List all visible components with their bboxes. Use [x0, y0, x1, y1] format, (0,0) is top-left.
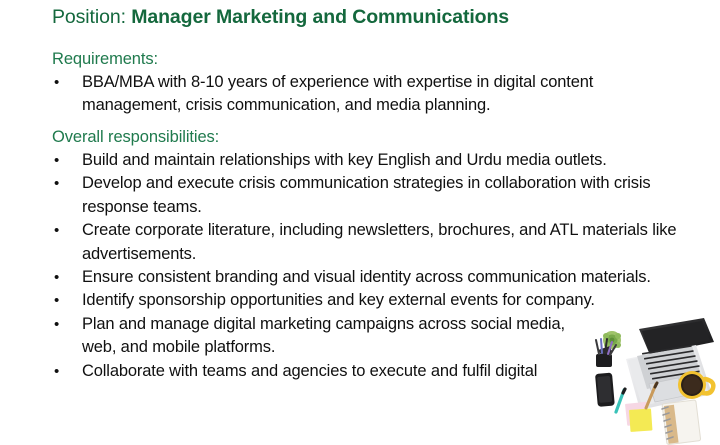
pencil-icon — [646, 383, 657, 408]
responsibilities-heading: Overall responsibilities: — [52, 127, 219, 148]
list-item: • BBA/MBA with 8-10 years of experience … — [0, 71, 720, 118]
pen-icon — [616, 389, 625, 412]
bullet-icon: • — [54, 266, 64, 289]
responsibilities-list: • Build and maintain relationships with … — [0, 149, 720, 383]
list-item-text: Collaborate with teams and agencies to e… — [82, 360, 660, 383]
list-item-text: Create corporate literature, including n… — [82, 219, 686, 266]
list-item: • Plan and manage digital marketing camp… — [0, 313, 720, 360]
list-item-text: Plan and manage digital marketing campai… — [82, 313, 570, 360]
requirements-heading: Requirements: — [52, 49, 158, 70]
list-item-text: BBA/MBA with 8-10 years of experience wi… — [82, 71, 686, 118]
bullet-icon: • — [54, 71, 64, 94]
slide-canvas: Position: Manager Marketing and Communic… — [0, 0, 720, 445]
bullet-icon: • — [54, 149, 64, 172]
position-heading: Position: Manager Marketing and Communic… — [52, 5, 509, 29]
list-item: • Ensure consistent branding and visual … — [0, 266, 720, 289]
bullet-icon: • — [54, 172, 64, 195]
bullet-icon: • — [54, 360, 64, 383]
spiral-notebook-icon — [662, 400, 701, 445]
list-item: • Collaborate with teams and agencies to… — [0, 360, 720, 383]
list-item-text: Develop and execute crisis communication… — [82, 172, 686, 219]
list-item: • Build and maintain relationships with … — [0, 149, 720, 172]
bullet-icon: • — [54, 219, 64, 242]
list-item-text: Build and maintain relationships with ke… — [82, 149, 686, 172]
list-item-text: Ensure consistent branding and visual id… — [82, 266, 686, 289]
list-item-text: Identify sponsorship opportunities and k… — [82, 289, 602, 312]
list-item: • Identify sponsorship opportunities and… — [0, 289, 720, 312]
bullet-icon: • — [54, 289, 64, 312]
list-item: • Create corporate literature, including… — [0, 219, 720, 266]
position-value: Manager Marketing and Communications — [131, 6, 509, 28]
position-label: Position: — [52, 6, 126, 28]
bullet-icon: • — [54, 313, 64, 336]
list-item: • Develop and execute crisis communicati… — [0, 172, 720, 219]
requirements-list: • BBA/MBA with 8-10 years of experience … — [0, 71, 720, 118]
sticky-notes-icon — [625, 402, 652, 432]
